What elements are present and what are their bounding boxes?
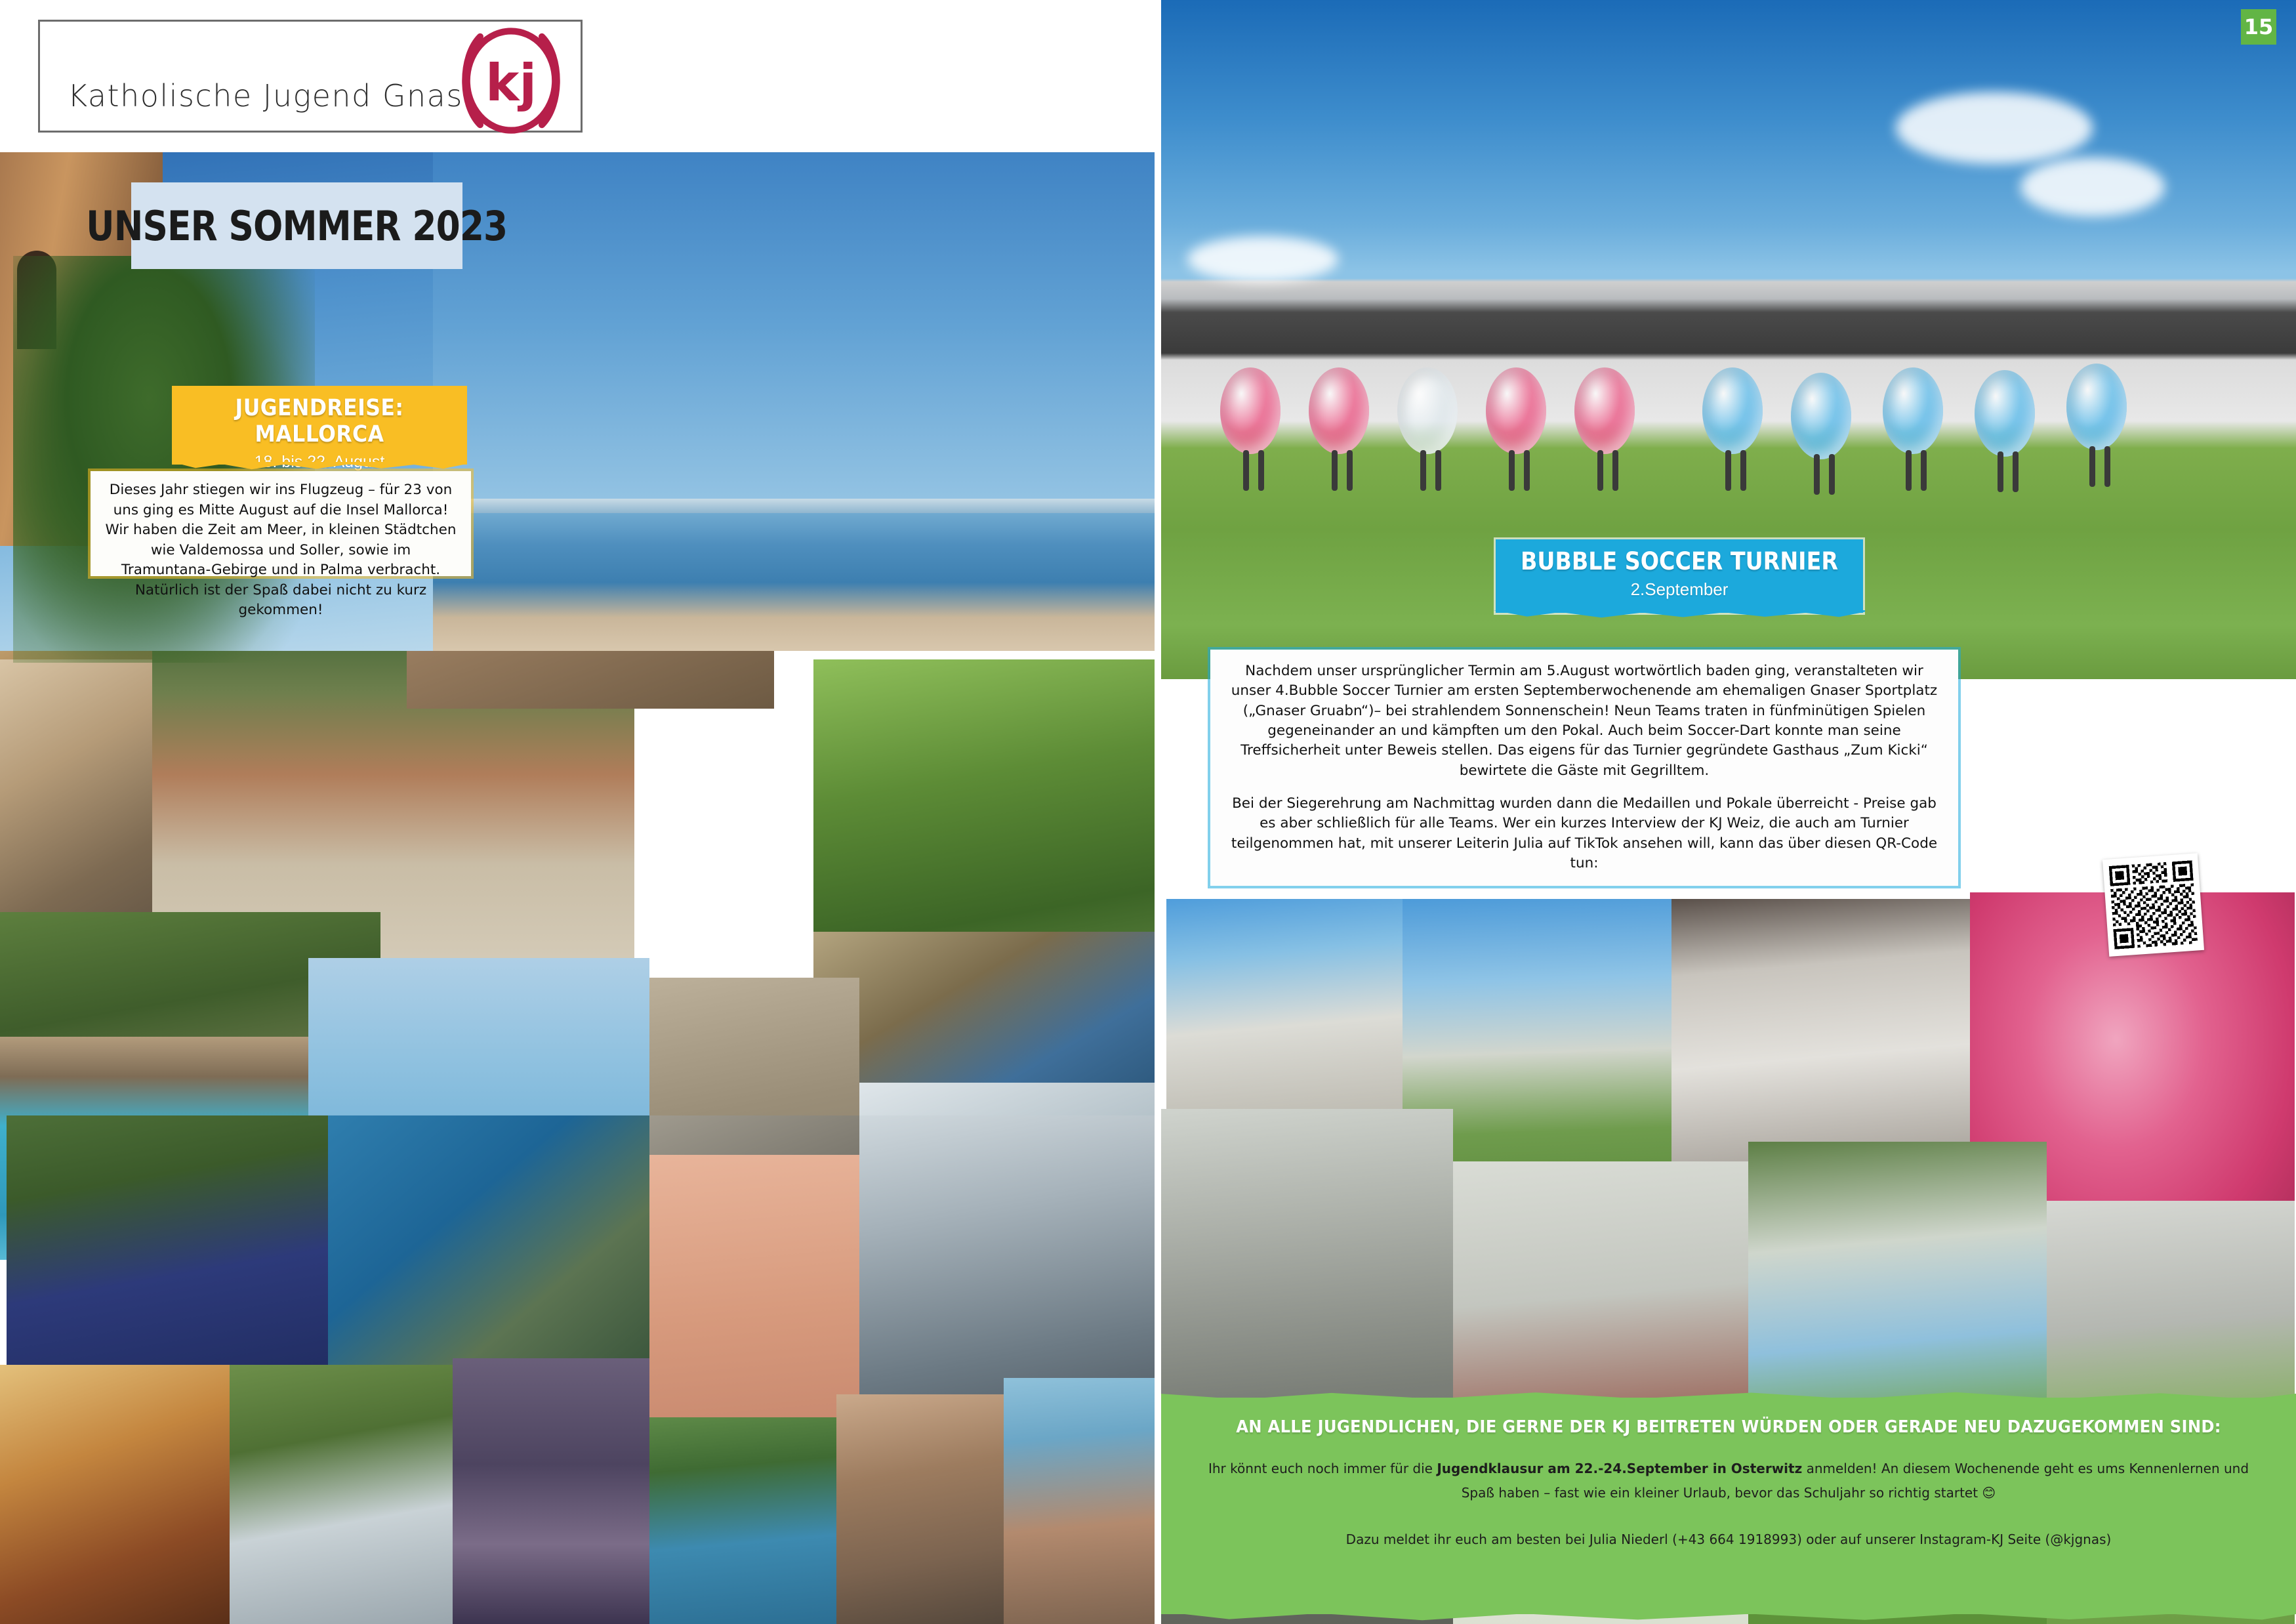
left-page: Katholische Jugend Gnas kj UNSER SOMMER … bbox=[0, 0, 1155, 1624]
membership-line1-bold: Jugendklausur am 22.-24.September in Ost… bbox=[1437, 1461, 1802, 1476]
bubble-soccer-badge-title: BUBBLE SOCCER TURNIER bbox=[1514, 547, 1845, 575]
mallorca-description: Dieses Jahr stiegen wir ins Flugzeug – f… bbox=[91, 471, 471, 576]
membership-callout: AN ALLE JUGENDLICHEN, DIE GERNE DER KJ B… bbox=[1161, 1398, 2296, 1614]
mallorca-badge: JUGENDREISE: MALLORCA 18. bis 22. August bbox=[172, 386, 467, 465]
mallorca-badge-date: 18. bis 22. August bbox=[172, 453, 467, 472]
photo-jeep-tour bbox=[813, 932, 1155, 1083]
photo-canyoning-group bbox=[7, 1115, 328, 1404]
cloud-shape bbox=[1187, 236, 1338, 282]
membership-line1-pre: Ihr könnt euch noch immer für die bbox=[1208, 1461, 1437, 1476]
bubble-ball-row bbox=[1207, 367, 2257, 472]
bubble-soccer-description: Nachdem unser ursprünglicher Termin am 5… bbox=[1210, 650, 1958, 886]
page-title: UNSER SOMMER 2023 bbox=[86, 202, 507, 250]
logo-box: Katholische Jugend Gnas kj bbox=[38, 20, 583, 133]
page-title-banner: UNSER SOMMER 2023 bbox=[131, 182, 462, 269]
bubble-soccer-paragraph-1: Nachdem unser ursprünglicher Termin am 5… bbox=[1227, 661, 1941, 781]
cloud-shape bbox=[1896, 92, 2093, 164]
kj-logo-icon: kj bbox=[456, 26, 566, 131]
bubble-soccer-badge-date: 2.September bbox=[1496, 579, 1863, 600]
svg-text:kj: kj bbox=[485, 54, 537, 113]
membership-body: Ihr könnt euch noch immer für die Jugend… bbox=[1193, 1457, 2265, 1552]
membership-line2: Dazu meldet ihr euch am besten bei Julia… bbox=[1193, 1528, 2265, 1552]
page-number-badge: 15 bbox=[2241, 9, 2276, 45]
membership-heading: AN ALLE JUGENDLICHEN, DIE GERNE DER KJ B… bbox=[1220, 1415, 2238, 1441]
logo-bar: Katholische Jugend Gnas kj bbox=[0, 0, 1155, 152]
photo-cove-swim bbox=[649, 1417, 836, 1624]
photo-paella bbox=[0, 1365, 230, 1624]
right-page: 15 BUBBLE SOCCER TURNIER 2.September Nac… bbox=[1161, 0, 2296, 1624]
organisation-name: Katholische Jugend Gnas bbox=[68, 78, 463, 114]
photo-jeep-selfie bbox=[230, 1365, 453, 1624]
bubble-soccer-paragraph-2: Bei der Siegerehrung am Nachmittag wurde… bbox=[1227, 794, 1941, 873]
photo-street-icecream bbox=[836, 1394, 1004, 1624]
qr-code-icon[interactable] bbox=[2102, 853, 2204, 957]
photo-medal-winners bbox=[1166, 899, 1403, 1129]
photo-cathedral-interior bbox=[453, 1358, 649, 1624]
photo-drinks-couple bbox=[1004, 1378, 1155, 1624]
cloud-shape bbox=[2020, 157, 2165, 217]
hero-sea bbox=[433, 499, 1155, 651]
mallorca-badge-title: JUGENDREISE: MALLORCA bbox=[187, 395, 453, 448]
bubble-soccer-badge: BUBBLE SOCCER TURNIER 2.September bbox=[1496, 539, 1863, 613]
magazine-spread: Katholische Jugend Gnas kj UNSER SOMMER … bbox=[0, 0, 2296, 1624]
